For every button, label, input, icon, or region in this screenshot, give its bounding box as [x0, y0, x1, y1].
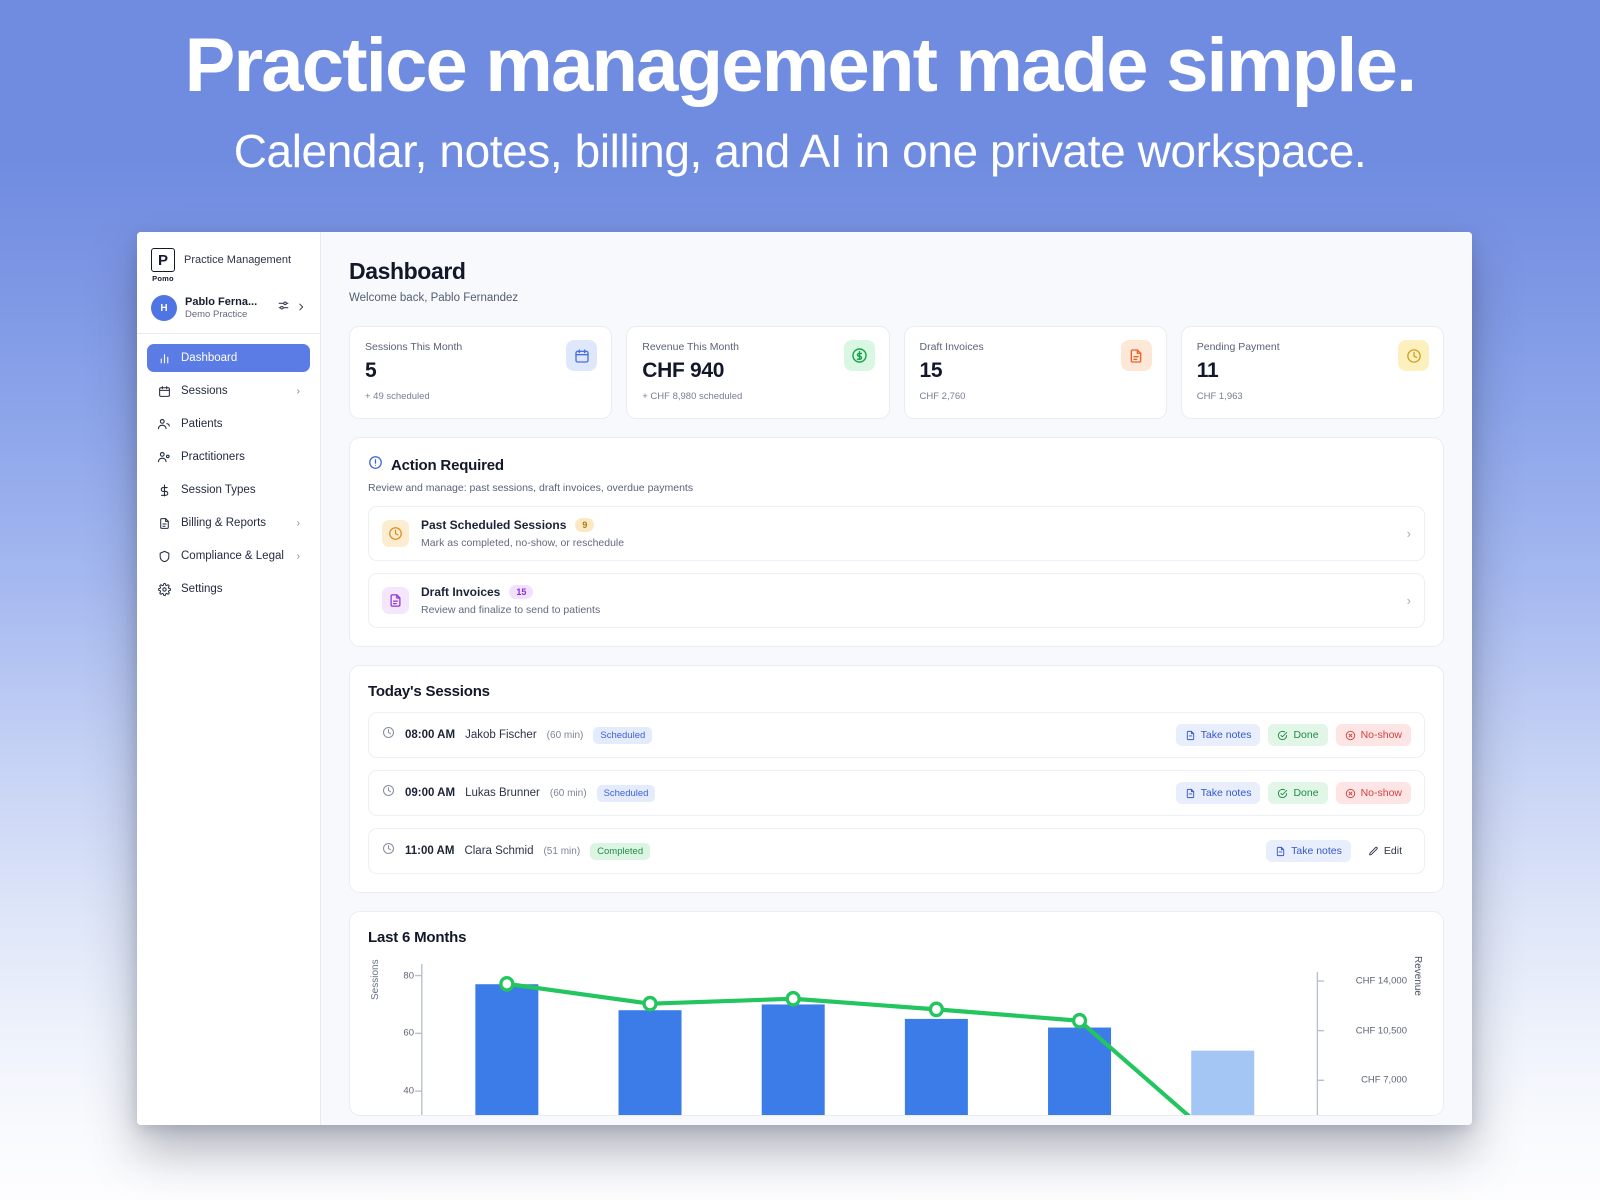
action-title-row: Draft Invoices 15: [421, 585, 1395, 599]
sidebar-item-label: Practitioners: [181, 451, 300, 463]
stat-footnote: + 49 scheduled: [365, 391, 596, 402]
clock-icon: [382, 520, 409, 547]
chart-plot-area: [368, 960, 1425, 1116]
clock-icon: [382, 726, 395, 744]
table-row: 08:00 AM Jakob Fischer (60 min) Schedule…: [368, 712, 1425, 758]
logo-letter-icon: P: [151, 248, 175, 272]
x-circle-icon: [1345, 788, 1356, 799]
chart-body: Sessions Revenue 406080CHF 7,000CHF 10,5…: [368, 960, 1425, 1116]
take-notes-button[interactable]: Take notes: [1176, 782, 1261, 804]
stat-label: Sessions This Month: [365, 341, 596, 353]
stat-value: 11: [1197, 359, 1428, 383]
status-badge: Scheduled: [593, 727, 652, 744]
chevron-right-icon: ›: [297, 518, 300, 529]
action-title: Draft Invoices: [421, 585, 500, 599]
sidebar-item-sessions[interactable]: Sessions ›: [147, 377, 310, 405]
stat-value: CHF 940: [642, 359, 873, 383]
user-text: Pablo Ferna... Demo Practice: [185, 296, 269, 320]
stat-value: 5: [365, 359, 596, 383]
sidebar-item-label: Sessions: [181, 385, 287, 397]
action-title-row: Past Scheduled Sessions 9: [421, 518, 1395, 532]
stat-label: Revenue This Month: [642, 341, 873, 353]
dollar-icon: [157, 483, 171, 497]
stat-card-pending-payment: Pending Payment 11 CHF 1,963: [1181, 326, 1444, 419]
pencil-icon: [1368, 846, 1379, 857]
sidebar-item-label: Settings: [181, 583, 300, 595]
chevron-right-icon: ›: [297, 386, 300, 397]
document-icon: [1275, 846, 1286, 857]
sliders-icon[interactable]: [277, 299, 290, 317]
sidebar-item-label: Billing & Reports: [181, 517, 287, 529]
sidebar-item-compliance-legal[interactable]: Compliance & Legal ›: [147, 542, 310, 570]
sidebar-item-practitioners[interactable]: Practitioners: [147, 443, 310, 471]
stat-card-sessions: Sessions This Month 5 + 49 scheduled: [349, 326, 612, 419]
button-label: No-show: [1361, 787, 1402, 799]
hero-subtitle: Calendar, notes, billing, and AI in one …: [0, 124, 1600, 178]
chart-title: Last 6 Months: [368, 929, 1425, 946]
session-actions: Take notes Done No-show: [1176, 782, 1411, 804]
stat-value: 15: [920, 359, 1151, 383]
sidebar-item-settings[interactable]: Settings: [147, 575, 310, 603]
edit-button[interactable]: Edit: [1359, 840, 1411, 862]
last-6-months-chart-card: Last 6 Months Sessions Revenue 406080CHF…: [349, 911, 1444, 1116]
chevron-right-icon[interactable]: ›: [1407, 593, 1411, 608]
stat-footnote: CHF 1,963: [1197, 391, 1428, 402]
logo-wordmark: Pomo: [152, 274, 174, 283]
button-label: Take notes: [1201, 787, 1252, 799]
action-description: Mark as completed, no-show, or reschedul…: [421, 537, 1395, 549]
action-description: Review and finalize to send to patients: [421, 604, 1395, 616]
calendar-icon: [566, 340, 597, 371]
button-label: Done: [1293, 729, 1318, 741]
stat-card-revenue: Revenue This Month CHF 940 + CHF 8,980 s…: [626, 326, 889, 419]
session-duration: (60 min): [550, 788, 587, 799]
sidebar-item-session-types[interactable]: Session Types: [147, 476, 310, 504]
table-row: 09:00 AM Lukas Brunner (60 min) Schedule…: [368, 770, 1425, 816]
user-name: Pablo Ferna...: [185, 296, 269, 308]
session-patient: Jakob Fischer: [465, 729, 537, 741]
stat-label: Pending Payment: [1197, 341, 1428, 353]
stat-card-draft-invoices: Draft Invoices 15 CHF 2,760: [904, 326, 1167, 419]
panel-subtitle: Review and manage: past sessions, draft …: [368, 482, 1425, 494]
todays-sessions-panel: Today's Sessions 08:00 AM Jakob Fischer …: [349, 665, 1444, 893]
session-time: 08:00 AM: [405, 729, 455, 741]
brand-row: P Pomo Practice Management: [151, 248, 306, 283]
dollar-circle-icon: [844, 340, 875, 371]
chart-y-tick-label: 80: [382, 970, 414, 981]
badge-count: 15: [509, 585, 533, 599]
sidebar-item-label: Compliance & Legal: [181, 550, 287, 562]
sidebar-item-label: Session Types: [181, 484, 300, 496]
session-patient: Clara Schmid: [464, 845, 533, 857]
action-required-header: Action Required: [368, 455, 1425, 475]
badge-count: 9: [575, 518, 594, 532]
chart-y-tick-label: 40: [382, 1086, 414, 1097]
panel-title: Today's Sessions: [368, 683, 1425, 700]
calendar-icon: [157, 384, 171, 398]
users-icon: [157, 417, 171, 431]
clock-icon: [382, 842, 395, 860]
button-label: Take notes: [1291, 845, 1342, 857]
status-badge: Scheduled: [597, 785, 656, 802]
user-org: Demo Practice: [185, 309, 269, 320]
document-icon: [1185, 788, 1196, 799]
chevron-right-icon: ›: [297, 551, 300, 562]
take-notes-button[interactable]: Take notes: [1266, 840, 1351, 862]
chart-bar-icon: [157, 351, 171, 365]
sidebar-item-billing-reports[interactable]: Billing & Reports ›: [147, 509, 310, 537]
session-duration: (60 min): [547, 730, 584, 741]
stat-footnote: + CHF 8,980 scheduled: [642, 391, 873, 402]
action-title: Past Scheduled Sessions: [421, 518, 566, 532]
chart-y2-tick-label: CHF 14,000: [1356, 976, 1407, 987]
check-circle-icon: [1277, 788, 1288, 799]
action-body: Draft Invoices 15 Review and finalize to…: [421, 585, 1395, 616]
sidebar-item-dashboard[interactable]: Dashboard: [147, 344, 310, 372]
session-actions: Take notes Edit: [1266, 840, 1411, 862]
page-title: Dashboard: [349, 258, 1444, 285]
mark-done-button[interactable]: Done: [1268, 782, 1327, 804]
hero-section: Practice management made simple. Calenda…: [0, 0, 1600, 178]
app-window: P Pomo Practice Management H Pablo Ferna…: [137, 232, 1472, 1125]
stat-label: Draft Invoices: [920, 341, 1151, 353]
document-icon: [382, 587, 409, 614]
chart-y-tick-label: 60: [382, 1028, 414, 1039]
sidebar-nav: Dashboard Sessions › Patients: [137, 334, 320, 608]
shield-icon: [157, 549, 171, 563]
session-time: 09:00 AM: [405, 787, 455, 799]
stat-cards: Sessions This Month 5 + 49 scheduled Rev…: [349, 326, 1444, 419]
pomo-logo: P Pomo: [151, 248, 175, 283]
document-icon: [157, 516, 171, 530]
mark-done-button[interactable]: Done: [1268, 724, 1327, 746]
user-switcher[interactable]: H Pablo Ferna... Demo Practice: [151, 295, 306, 321]
panel-title: Action Required: [391, 457, 504, 474]
clock-icon: [382, 784, 395, 802]
take-notes-button[interactable]: Take notes: [1176, 724, 1261, 746]
no-show-button[interactable]: No-show: [1336, 724, 1411, 746]
button-label: Done: [1293, 787, 1318, 799]
chart-y2-tick-label: CHF 7,000: [1361, 1075, 1407, 1086]
button-label: Edit: [1384, 845, 1402, 857]
action-row-draft-invoices[interactable]: Draft Invoices 15 Review and finalize to…: [368, 573, 1425, 628]
document-icon: [1121, 340, 1152, 371]
action-required-panel: Action Required Review and manage: past …: [349, 437, 1444, 647]
button-label: Take notes: [1201, 729, 1252, 741]
action-row-past-sessions[interactable]: Past Scheduled Sessions 9 Mark as comple…: [368, 506, 1425, 561]
status-badge: Completed: [590, 843, 650, 860]
chevron-right-icon[interactable]: [296, 299, 306, 317]
document-icon: [1185, 730, 1196, 741]
table-row: 11:00 AM Clara Schmid (51 min) Completed…: [368, 828, 1425, 874]
x-circle-icon: [1345, 730, 1356, 741]
user-gear-icon: [157, 450, 171, 464]
chart-y2-tick-label: CHF 10,500: [1356, 1025, 1407, 1036]
avatar: H: [151, 295, 177, 321]
page-subtitle: Welcome back, Pablo Fernandez: [349, 292, 1444, 304]
session-actions: Take notes Done No-show: [1176, 724, 1411, 746]
check-circle-icon: [1277, 730, 1288, 741]
session-patient: Lukas Brunner: [465, 787, 540, 799]
session-duration: (51 min): [543, 846, 580, 857]
sidebar-item-label: Patients: [181, 418, 300, 430]
hero-title: Practice management made simple.: [0, 24, 1600, 108]
sidebar-item-label: Dashboard: [181, 352, 300, 364]
session-time: 11:00 AM: [405, 845, 454, 857]
info-circle-icon: [368, 455, 383, 475]
sidebar-brand-block: P Pomo Practice Management H Pablo Ferna…: [137, 232, 320, 334]
brand-title: Practice Management: [184, 254, 291, 266]
user-actions[interactable]: [277, 299, 306, 317]
chevron-right-icon[interactable]: ›: [1407, 526, 1411, 541]
action-body: Past Scheduled Sessions 9 Mark as comple…: [421, 518, 1395, 549]
stat-footnote: CHF 2,760: [920, 391, 1151, 402]
clock-icon: [1398, 340, 1429, 371]
button-label: No-show: [1361, 729, 1402, 741]
main-content: Dashboard Welcome back, Pablo Fernandez …: [321, 232, 1472, 1125]
sidebar: P Pomo Practice Management H Pablo Ferna…: [137, 232, 321, 1125]
sidebar-item-patients[interactable]: Patients: [147, 410, 310, 438]
gear-icon: [157, 582, 171, 596]
no-show-button[interactable]: No-show: [1336, 782, 1411, 804]
